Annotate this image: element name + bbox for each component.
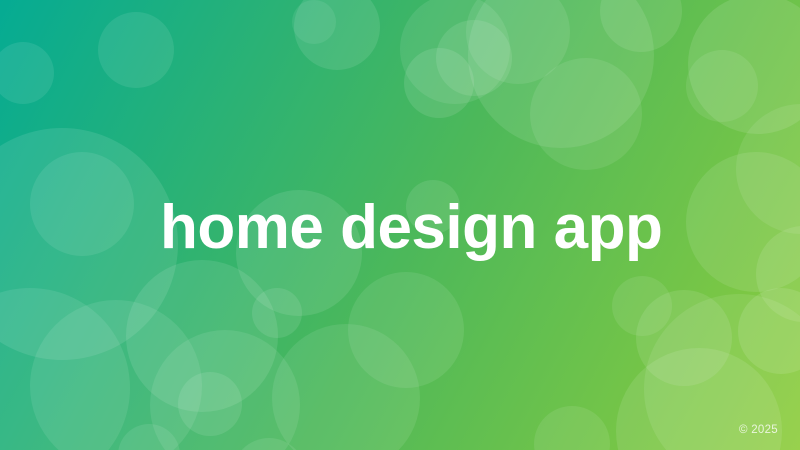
copyright-notice: © 2025 <box>739 423 778 437</box>
slide-canvas: home design app © 2025 <box>0 0 800 450</box>
slide-content: home design app © 2025 <box>0 0 800 450</box>
page-title: home design app <box>160 192 720 264</box>
